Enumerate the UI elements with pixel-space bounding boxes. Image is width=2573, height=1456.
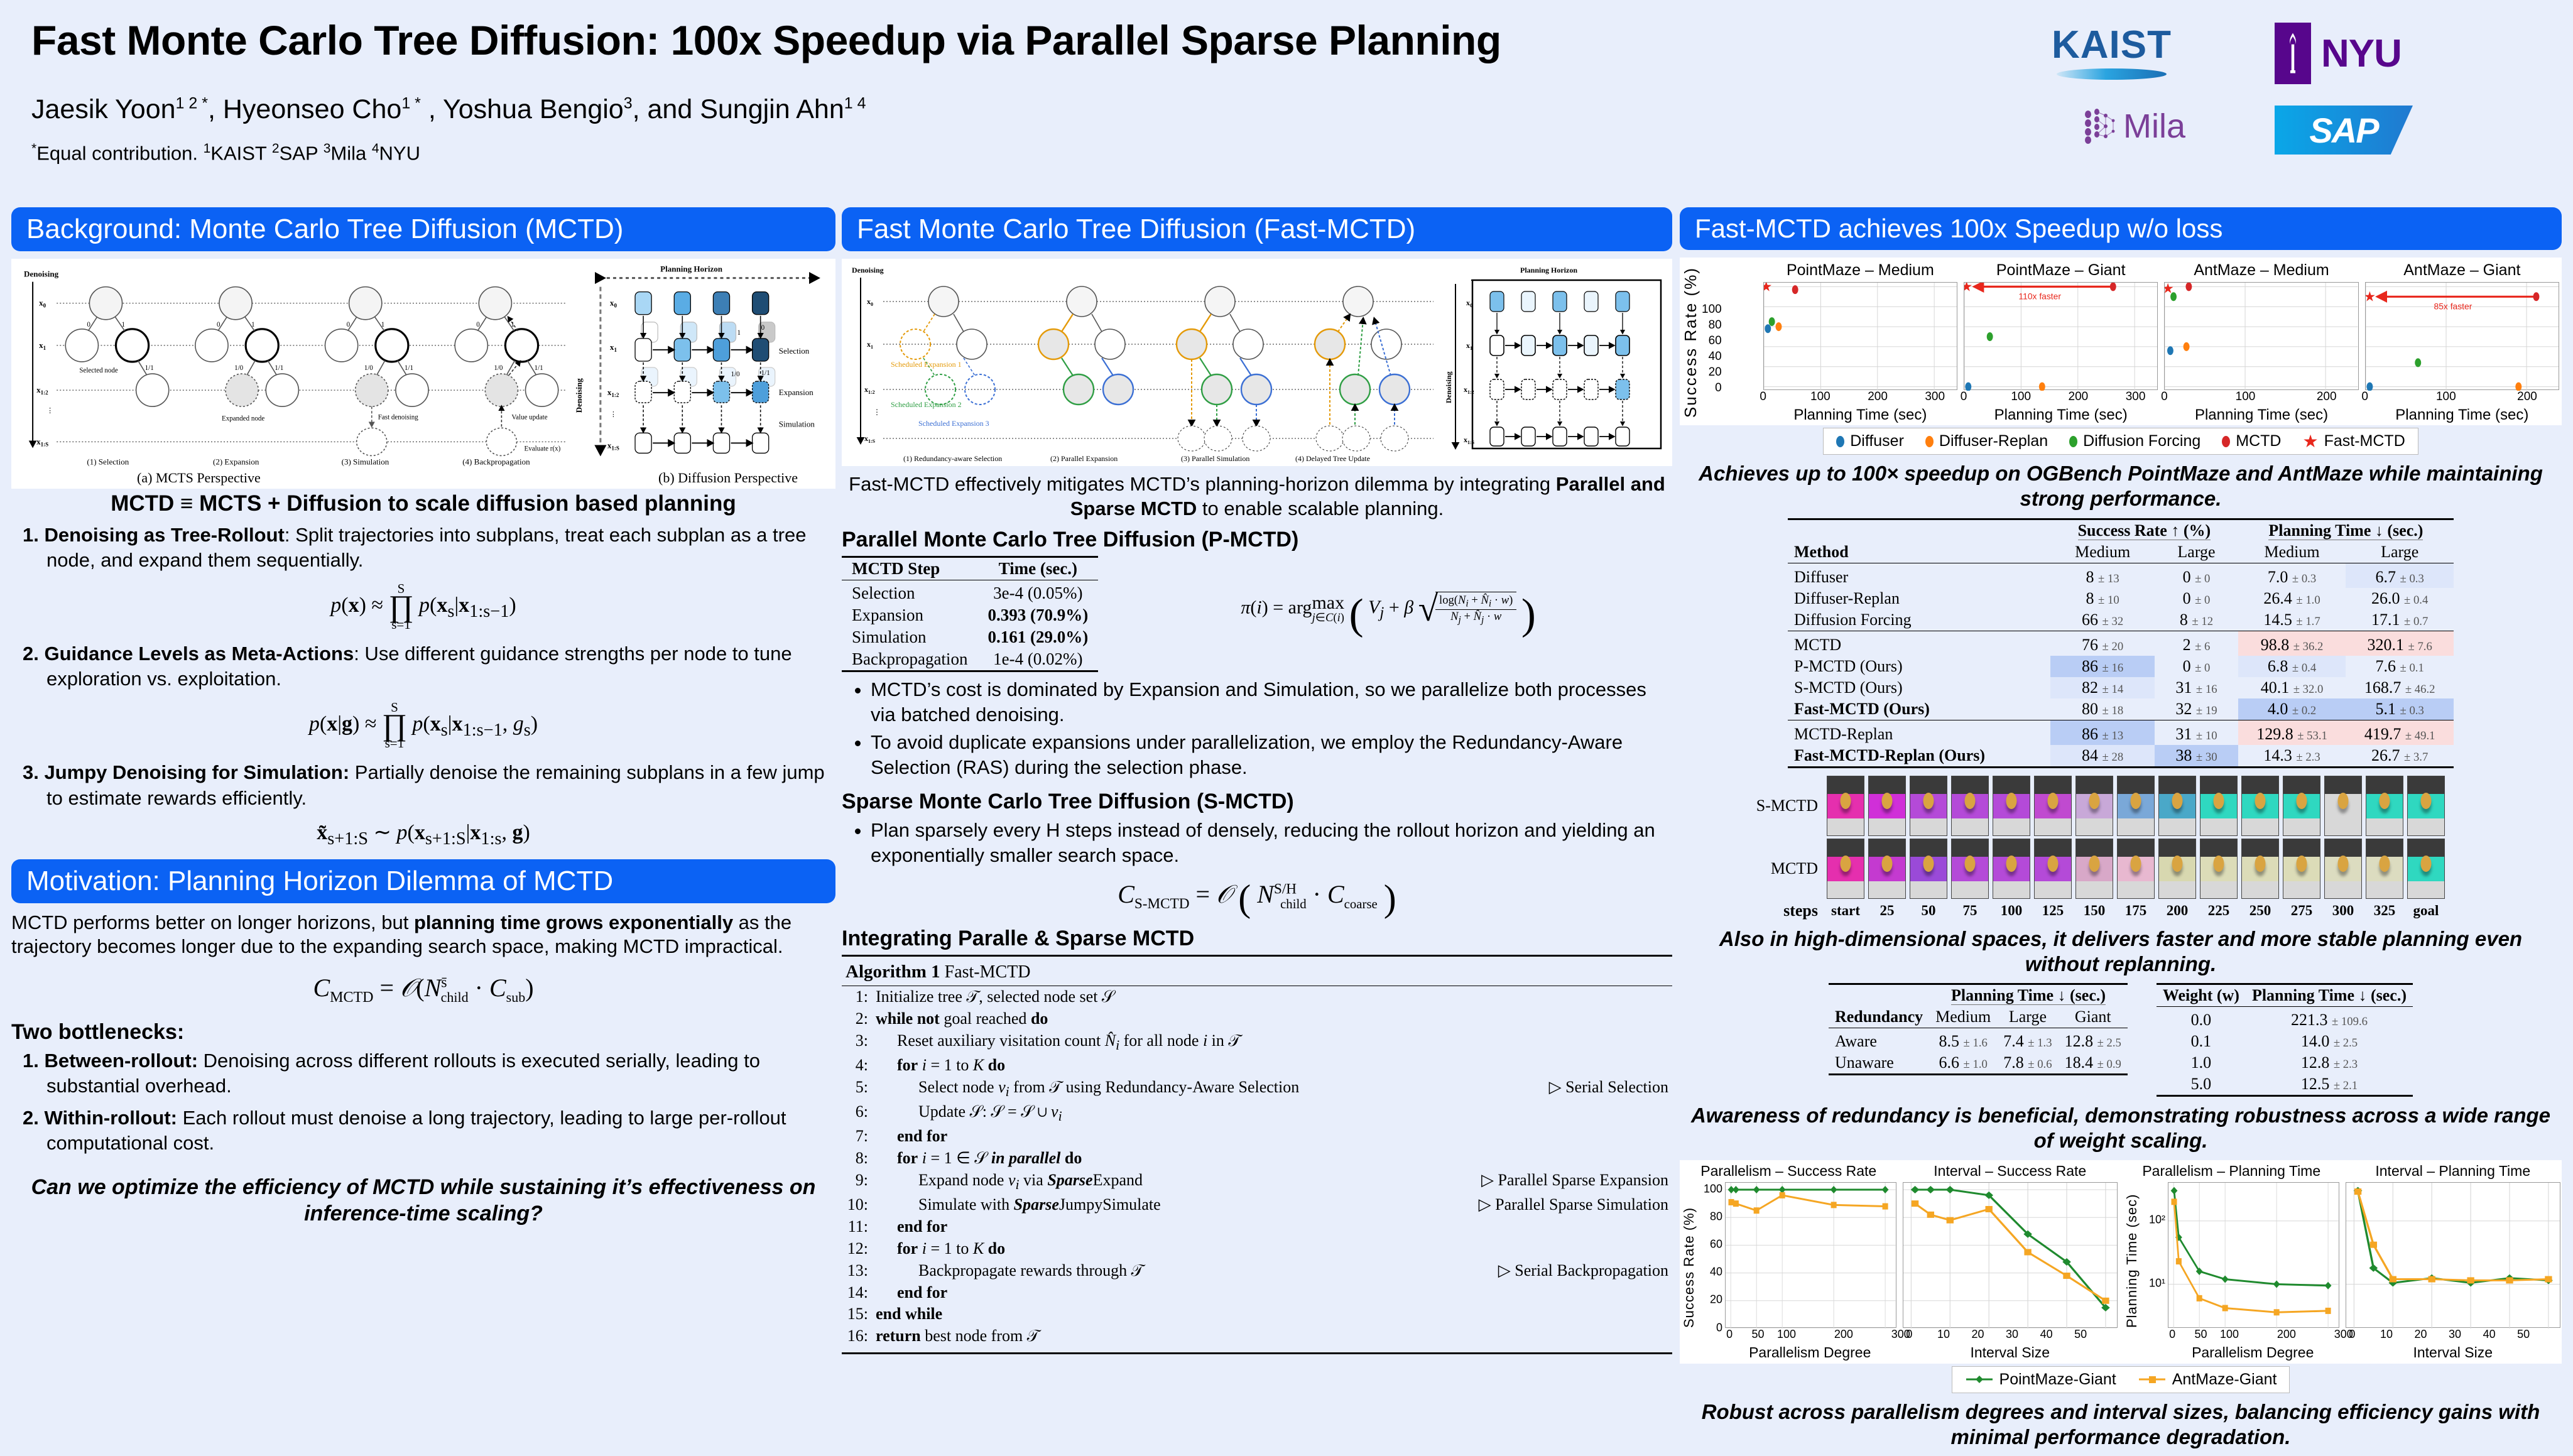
svg-text:0: 0 [476,321,480,329]
figure-mctd-overview: .sl{font:13px "Liberation Serif",serif;}… [11,259,835,489]
svg-text:1: 1 [122,321,126,329]
filmstrip-frame [2324,839,2362,899]
svg-text:x1:S: x1:S [864,434,876,444]
filmstrip-step: 250 [2241,903,2279,919]
svg-text:Simulation: Simulation [779,419,815,428]
svg-text:Expanded node: Expanded node [222,415,264,422]
svg-text:0: 0 [761,324,765,332]
algorithm-line: 7:end for [842,1126,1672,1148]
algorithm-line: 6:Update 𝒮: 𝒮 = 𝒮 ∪ vi [842,1101,1672,1126]
filmstrip-frame [1910,776,1947,836]
svg-text:0: 0 [217,321,220,329]
svg-text:Value update: Value update [511,413,547,421]
column-right: Fast-MCTD achieves 100x Speedup w/o loss… [1680,207,2562,1456]
chart-xlabel: Planning Time (sec) [2365,406,2559,424]
algorithm-line: 14:end for [842,1282,1672,1304]
chart-group-ablation: Parallelism – Success Rate Success Rate … [1680,1160,2562,1364]
logo-group: KAIST NYU [1989,11,2554,181]
svg-text:x1:S: x1:S [36,437,48,447]
chart-ylabel-success: Success Rate (%) [1681,267,1700,418]
list-item: 1. Between-rollout: Denoising across dif… [11,1048,835,1099]
svg-text:Denoising: Denoising [852,266,884,274]
equation-ras-selection: π(i) = arg maxj∈C(i) ( Vj + β √ log(Ni +… [1104,589,1672,639]
svg-text:(1) Selection: (1) Selection [87,457,129,466]
filmstrip-frame [2158,776,2196,836]
legend-item: Diffuser-Replan [1925,432,2048,450]
filmstrip-frame [2283,839,2320,899]
chart-xlabel: Interval Size [2346,1344,2561,1361]
svg-text:Scheduled Expansion 1: Scheduled Expansion 1 [891,360,962,369]
heading-smctd: Sparse Monte Carlo Tree Diffusion (S-MCT… [842,790,1672,814]
svg-text:⋮: ⋮ [610,411,617,418]
figure-caption-b: (b) Diffusion Perspective [658,470,798,486]
column-left: Background: Monte Carlo Tree Diffusion (… [11,207,835,1233]
svg-text:Expansion: Expansion [779,388,813,397]
chart-title: PointMaze – Giant [1964,261,2158,280]
svg-text:x0: x0 [1466,298,1472,308]
affiliation-list: *Equal contribution. 1KAIST 2SAP 3Mila 4… [31,141,420,165]
figure-fastmctd-overview: .f2{font:12px "Liberation Serif",serif;}… [842,259,1672,466]
chart-xlabel: Parallelism Degree [2167,1344,2339,1361]
chart-panel: AntMaze – Medium ★ 0100200 Planning Time… [2164,261,2358,424]
mila-dots-icon [2083,108,2118,144]
svg-text:x0: x0 [610,298,617,309]
svg-text:Scheduled Expansion 3: Scheduled Expansion 3 [918,419,989,428]
filmstrip-comparison: S-MCTD [1680,776,2562,920]
heading-integrating: Integrating Paralle & Sparse MCTD [842,926,1672,951]
chart-panel: Parallelism – Success Rate Success Rate … [1681,1163,1896,1361]
filmstrip-step: start [1827,903,1864,919]
section-band-background: Background: Monte Carlo Tree Diffusion (… [11,207,835,251]
algorithm-line: 2:while not goal reached do [842,1008,1672,1030]
table-row: Expansion [842,604,977,626]
filmstrip-frame [2366,839,2403,899]
svg-text:★: ★ [2165,283,2174,296]
filmstrip-frame [2117,839,2155,899]
filmstrip-frame [1827,839,1864,899]
table-row: Aware8.5 ± 1.67.4 ± 1.312.8 ± 2.5 [1829,1028,2128,1053]
table-row: Diffuser8 ± 130 ± 07.0 ± 0.36.7 ± 0.3 [1788,563,2454,588]
table-row: Selection [842,580,977,604]
svg-text:1/0: 1/0 [494,364,503,372]
legend-item: Diffusion Forcing [2069,432,2200,450]
table-row: S-MCTD (Ours)82 ± 1431 ± 1640.1 ± 32.016… [1788,677,2454,698]
table-row: Fast-MCTD-Replan (Ours)84 ± 2838 ± 3014.… [1788,745,2454,768]
filmstrip-frame [2200,776,2238,836]
svg-text:1/0: 1/0 [731,371,741,378]
svg-text:1: 1 [251,321,255,329]
column-middle: Fast Monte Carlo Tree Diffusion (Fast-MC… [842,207,1672,1354]
chart-title: Parallelism – Success Rate [1681,1163,1896,1180]
filmstrip-frame [2241,839,2279,899]
filmstrip-row-label: S-MCTD [1755,796,1818,815]
algorithm-line: 13:Backpropagate rewards through 𝒯▷ Seri… [842,1260,1672,1282]
svg-text:1/1: 1/1 [275,364,283,372]
mctd-key-ideas: 1. Denoising as Tree-Rollout: Split traj… [11,523,835,573]
filmstrip-step: 25 [1868,903,1906,919]
algorithm-line: 1:Initialize tree 𝒯, selected node set 𝒮 [842,986,1672,1008]
svg-text:★: ★ [1964,283,1972,294]
algorithm-lines: 1:Initialize tree 𝒯, selected node set 𝒮… [842,986,1672,1347]
poster-header: Fast Monte Carlo Tree Diffusion: 100x Sp… [0,0,2573,195]
svg-text:1/1: 1/1 [145,364,154,372]
filmstrip-frame [1993,839,2030,899]
list-item: 2. Guidance Levels as Meta-Actions: Use … [11,641,835,692]
svg-text:Evaluate r(x): Evaluate r(x) [525,445,561,452]
algorithm-line: 3:Reset auxiliary visitation count N̂i f… [842,1030,1672,1055]
filmstrip-row-label: MCTD [1755,859,1818,878]
filmstrip-step: goal [2407,903,2445,919]
nyu-torch-icon [2275,23,2311,84]
svg-text:1: 1 [381,321,385,329]
svg-text:x1:2: x1:2 [36,385,48,396]
filmstrip-step-ticks: start25507510012515017520022525027530032… [1827,903,2445,919]
smctd-bullets: Plan sparsely every H steps instead of d… [842,818,1672,869]
algorithm-line: 8:for i = 1 ∈ 𝒮 in parallel do [842,1148,1672,1170]
redundancy-table: Planning Time ↓ (sec.) Redundancy Medium… [1829,983,2128,1075]
legend-item: AntMaze-Giant [2138,1371,2277,1389]
chart-title: AntMaze – Medium [2164,261,2358,280]
filmstrip-frame [1951,776,1989,836]
svg-text:⋮: ⋮ [46,407,53,415]
author-list: Jaesik Yoon1 2 *, Hyeonseo Cho1 * , Yosh… [31,94,866,125]
filmstrip-frame [2241,776,2279,836]
fastmctd-intro: Fast-MCTD effectively mitigates MCTD’s p… [842,472,1672,521]
chart-ylabel: Success Rate (%) [1681,1182,1697,1328]
filmstrip-frame [1868,776,1906,836]
sap-logo: SAP [2275,106,2413,155]
filmstrip-frame [2283,776,2320,836]
list-item: To avoid duplicate expansions under para… [871,730,1672,781]
svg-text:(4) Backpropagation: (4) Backpropagation [462,457,530,466]
algorithm-line: 4:for i = 1 to K do [842,1055,1672,1077]
table-row: P-MCTD (Ours)86 ± 160 ± 06.8 ± 0.47.6 ± … [1788,656,2454,677]
filmstrip-steps-label: steps [1755,901,1818,920]
svg-text:Scheduled Expansion 2: Scheduled Expansion 2 [891,400,962,409]
section-band-results: Fast-MCTD achieves 100x Speedup w/o loss [1680,207,2562,250]
caption-redundancy: Awareness of redundancy is beneficial, d… [1680,1103,2562,1154]
chart-panel: AntMaze – Giant 85x faster★ 0100200 Plan… [2365,261,2559,424]
svg-text:1/1: 1/1 [535,364,543,372]
filmstrip-step: 125 [2034,903,2072,919]
svg-text:Fast denoising: Fast denoising [378,413,418,421]
legend-item: PointMaze-Giant [1965,1371,2116,1389]
filmstrip-step: 300 [2324,903,2362,919]
chart-title: Interval – Success Rate [1903,1163,2118,1180]
svg-text:x1: x1 [39,340,46,351]
algorithm-line: 9:Expand node vi via SparseExpand▷ Paral… [842,1170,1672,1194]
mila-logo: Mila [2083,107,2185,146]
filmstrip-step: 75 [1951,903,1989,919]
figure-caption-a: (a) MCTS Perspective [137,470,261,486]
filmstrip-row-smctd [1827,776,2445,836]
filmstrip-step: 100 [1993,903,2030,919]
mctd-headline: MCTD ≡ MCTS + Diffusion to scale diffusi… [11,491,835,516]
motivation-paragraph: MCTD performs better on longer horizons,… [11,911,835,960]
filmstrip-frame [2117,776,2155,836]
filmstrip-frame [1910,839,1947,899]
svg-text:x0: x0 [867,297,873,307]
nyu-logo: NYU [2275,23,2402,84]
caption-highdim: Also in high-dimensional spaces, it deli… [1680,926,2562,977]
poster-root: Fast Monte Carlo Tree Diffusion: 100x Sp… [0,0,2573,1445]
list-item: 3. Jumpy Denoising for Simulation: Parti… [11,760,835,811]
table-row: Diffuser-Replan8 ± 100 ± 026.4 ± 1.026.0… [1788,588,2454,609]
pmctd-bullets: MCTD’s cost is dominated by Expansion an… [842,677,1672,781]
table-row: Simulation [842,626,977,648]
svg-text:110x faster: 110x faster [2018,291,2061,301]
weight-table: Weight (w) Planning Time ↓ (sec.) 0.0221… [2157,983,2413,1097]
chart-group-speedup: Success Rate (%) 100806040200 PointMaze … [1680,258,2562,425]
filmstrip-frame [1993,776,2030,836]
svg-text:Selection: Selection [779,346,810,356]
table-row: Diffusion Forcing66 ± 328 ± 1214.5 ± 1.7… [1788,609,2454,631]
filmstrip-step: 275 [2283,903,2320,919]
algorithm-line: 5:Select node vi from 𝒯 using Redundancy… [842,1077,1672,1101]
svg-text:1/1: 1/1 [405,364,413,372]
chart-xlabel: Parallelism Degree [1724,1344,1896,1361]
kaist-swoosh-icon [2057,68,2167,80]
filmstrip-frame [2075,776,2113,836]
filmstrip-step: 200 [2158,903,2196,919]
filmstrip-step: 175 [2117,903,2155,919]
svg-text:Planning Horizon: Planning Horizon [1520,266,1577,274]
heading-pmctd: Parallel Monte Carlo Tree Diffusion (P-M… [842,528,1672,552]
section-band-fastmctd: Fast Monte Carlo Tree Diffusion (Fast-MC… [842,207,1672,251]
chart-xlabel: Interval Size [1903,1344,2118,1361]
page-title: Fast Monte Carlo Tree Diffusion: 100x Sp… [31,16,1501,64]
main-results-table: Success Rate ↑ (%) Planning Time ↓ (sec.… [1788,518,2454,768]
list-item: Plan sparsely every H steps instead of d… [871,818,1672,869]
svg-text:(4) Delayed Tree Update: (4) Delayed Tree Update [1295,454,1370,463]
svg-text:0: 0 [347,321,351,329]
table-row: Backpropagation [842,648,977,671]
caption-speedup: Achieves up to 100× speedup on OGBench P… [1680,461,2562,512]
bottlenecks-title: Two bottlenecks: [11,1020,835,1045]
bottleneck-list: 1. Between-rollout: Denoising across dif… [11,1048,835,1156]
legend-bottom: PointMaze-Giant AntMaze-Giant [1952,1366,2290,1393]
svg-text:1/0: 1/0 [234,364,244,372]
table-row: Unaware6.6 ± 1.07.8 ± 0.618.4 ± 0.9 [1829,1052,2128,1075]
equation-guided-factorization: p(x|g) ≈ S∏s=1 p(xs|x1:s−1, gs) [11,701,835,751]
table-row: MCTD76 ± 202 ± 698.8 ± 36.2320.1 ± 7.6 [1788,631,2454,656]
filmstrip-frame [2075,839,2113,899]
research-question: Can we optimize the efficiency of MCTD w… [11,1175,835,1227]
algorithm-line: 11:end for [842,1216,1672,1238]
equation-smctd-cost: CS-MCTD = 𝒪 ( NS/Hchild · Ccoarse ) [842,877,1672,920]
filmstrip-step: 150 [2075,903,2113,919]
list-item: 1. Denoising as Tree-Rollout: Split traj… [11,523,835,573]
filmstrip-step: 225 [2200,903,2238,919]
list-item: MCTD’s cost is dominated by Expansion an… [871,677,1672,728]
chart-panel: Parallelism – Planning Time Planning Tim… [2124,1163,2339,1361]
chart-title: PointMaze – Medium [1763,261,1957,280]
timing-table: MCTD StepTime (sec.) Selection3e-4 (0.05… [842,556,1098,672]
chart-panel: Interval – Success Rate 01020304050 Inte… [1903,1163,2118,1361]
svg-text:⋮: ⋮ [873,408,881,416]
filmstrip-row-mctd [1827,839,2445,899]
chart-title: AntMaze – Giant [2365,261,2559,280]
algorithm-line: 16:return best node from 𝒯 [842,1325,1672,1347]
svg-text:x1:2: x1:2 [864,385,875,395]
svg-text:1: 1 [737,329,741,337]
filmstrip-frame [2200,839,2238,899]
svg-text:x0: x0 [39,298,46,309]
list-item: 2. Within-rollout: Each rollout must den… [11,1106,835,1156]
algorithm-title: Algorithm 1 Fast-MCTD [842,960,1672,986]
chart-xlabel: Planning Time (sec) [1964,406,2158,424]
filmstrip-step: 50 [1910,903,1947,919]
filmstrip-frame [2158,839,2196,899]
equation-mctd-cost: CMCTD = 𝒪(Ns̄child · Csub) [11,973,835,1006]
filmstrip-frame [2034,839,2072,899]
filmstrip-frame [1827,776,1864,836]
svg-text:x1:S: x1:S [607,440,619,451]
table-row: 0.0221.3 ± 109.6 [2157,1007,2413,1031]
svg-text:Selected node: Selected node [79,367,118,374]
filmstrip-frame [2366,776,2403,836]
legend-item: MCTD [2222,432,2281,450]
table-row: 1.012.8 ± 2.3 [2157,1052,2413,1073]
filmstrip-frame [2407,776,2445,836]
filmstrip-frame [2407,839,2445,899]
equation-jumpy-denoising: x̃s+1:S ∼ p(xs+1:S|x1:s, g) [11,820,835,849]
chart-title: Parallelism – Planning Time [2124,1163,2339,1180]
filmstrip-frame [2034,776,2072,836]
equation-subplan-factorization: p(x) ≈ S∏s=1 p(xs|x1:s−1) [11,582,835,632]
svg-text:x1: x1 [1466,341,1472,351]
svg-text:(2) Expansion: (2) Expansion [213,457,259,466]
chart-xlabel: Planning Time (sec) [1763,406,1957,424]
filmstrip-frame [1868,839,1906,899]
table-row: 0.114.0 ± 2.5 [2157,1031,2413,1052]
svg-text:85x faster: 85x faster [2434,301,2472,311]
algorithm-box: Algorithm 1 Fast-MCTD 1:Initialize tree … [842,955,1672,1354]
chart-panel: Interval – Planning Time 01020304050 Int… [2346,1163,2561,1361]
table-row: Fast-MCTD (Ours)80 ± 1832 ± 194.0 ± 0.25… [1788,698,2454,720]
svg-text:(2) Parallel Expansion: (2) Parallel Expansion [1050,454,1118,463]
svg-text:★: ★ [2366,288,2376,304]
algorithm-line: 12:for i = 1 to K do [842,1238,1672,1260]
svg-text:Denoising: Denoising [24,269,59,279]
legend-top: Diffuser Diffuser-Replan Diffusion Forci… [1823,428,2418,455]
chart-xlabel: Planning Time (sec) [2164,406,2358,424]
table-row: MCTD-Replan86 ± 1331 ± 10129.8 ± 53.1419… [1788,720,2454,745]
svg-text:1: 1 [511,321,514,329]
svg-text:x1:2: x1:2 [607,388,619,398]
svg-text:Denoising: Denoising [574,378,584,413]
svg-text:(1) Redundancy-aware Selection: (1) Redundancy-aware Selection [903,454,1002,463]
filmstrip-frame [1951,839,1989,899]
svg-text:Denoising: Denoising [1444,371,1453,403]
svg-text:1/1: 1/1 [761,369,770,377]
chart-ylabel: Planning Time (sec) [2124,1182,2140,1328]
chart-panel: PointMaze – Giant 110x faster★ 010020030… [1964,261,2158,424]
filmstrip-frame [2324,776,2362,836]
svg-text:1/0: 1/0 [364,364,374,372]
algorithm-line: 10:Simulate with SparseJumpySimulate▷ Pa… [842,1194,1672,1216]
svg-text:x1: x1 [867,340,873,350]
chart-title: Interval – Planning Time [2346,1163,2561,1180]
legend-item: ★Fast-MCTD [2303,432,2405,450]
svg-text:Planning Horizon: Planning Horizon [660,264,723,274]
legend-item: Diffuser [1836,432,1904,450]
svg-text:★: ★ [1764,283,1772,294]
svg-text:(3) Simulation: (3) Simulation [342,457,389,466]
filmstrip-step: 325 [2366,903,2403,919]
svg-text:x1: x1 [610,342,617,353]
table-row: 5.012.5 ± 2.1 [2157,1073,2413,1096]
svg-text:(3) Parallel Simulation: (3) Parallel Simulation [1181,454,1249,463]
kaist-logo: KAIST [2052,23,2172,80]
algorithm-line: 15:end while [842,1303,1672,1325]
caption-ablation: Robust across parallelism degrees and in… [1680,1399,2562,1450]
chart-panel: PointMaze – Medium ★ 0100200300 Planning… [1763,261,1957,424]
svg-text:0: 0 [87,321,90,329]
section-band-motivation: Motivation: Planning Horizon Dilemma of … [11,859,835,903]
